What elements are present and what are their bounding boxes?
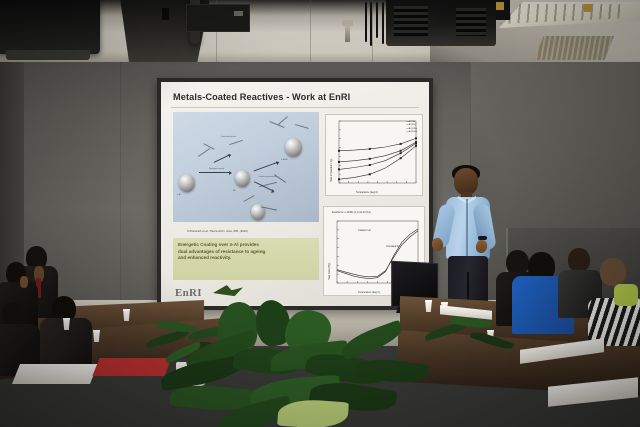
chart-legend: n-Al / ML n-Al (5%) n-Al (10%) n-Al (20%… bbox=[407, 121, 417, 135]
amber-indicator bbox=[584, 4, 592, 12]
amber-indicator bbox=[496, 2, 504, 10]
presenter-wristwatch bbox=[478, 236, 487, 240]
presenter-shirt-placket bbox=[466, 199, 468, 257]
air-conditioning-unit bbox=[386, 0, 496, 46]
slide-title: Metals-Coated Reactives - Work at EnRI bbox=[173, 92, 350, 102]
presentation-slide: Metals-Coated Reactives - Work at EnRI bbox=[161, 82, 429, 306]
callout-line: Energetic Coating over n-Al provides bbox=[178, 242, 314, 249]
diagram-label: Functionalisation bbox=[221, 136, 236, 139]
enri-logo-text: EnRI bbox=[175, 287, 202, 299]
projector-housing-left bbox=[0, 0, 100, 54]
conference-room-scene: Metals-Coated Reactives - Work at EnRI bbox=[0, 0, 640, 427]
y-axis-label: Heat Flow (W/g) bbox=[328, 263, 331, 280]
chart-title: Exotherm: n-Al/ML (1,2) & Al (3,4) bbox=[332, 211, 371, 214]
potted-plant-foreground bbox=[160, 300, 450, 427]
audience-member-left-4 bbox=[0, 300, 42, 372]
diagram-label: n-Al bbox=[177, 194, 181, 197]
slide-citation: S.Pisharath et al, Thermochim. Acta, 635… bbox=[187, 230, 248, 233]
ceiling-cables bbox=[363, 2, 389, 46]
enri-logo-leaf-icon bbox=[213, 285, 243, 298]
audience-member-left-3 bbox=[40, 296, 92, 366]
diagram-label: Energetic moiety bbox=[209, 168, 224, 171]
ceiling-speaker bbox=[186, 4, 250, 32]
diagram-label: Surface passivation bbox=[259, 176, 276, 179]
diagram-label: n-Al/ML bbox=[281, 159, 288, 162]
ceiling-vent bbox=[534, 36, 614, 60]
legend-entry: n-Al (20%) bbox=[407, 131, 417, 134]
x-axis-label: Temperature (deg C) bbox=[356, 191, 378, 194]
x-axis-label: Temperature (deg C) bbox=[358, 291, 380, 294]
diagram-label: Al-L bbox=[233, 190, 237, 193]
chart-annotation: Coated n-Al bbox=[358, 229, 371, 232]
callout-line: and enhanced reactivity. bbox=[178, 255, 314, 262]
audience-member-right-4 bbox=[592, 258, 640, 338]
potted-plant-back-right bbox=[420, 318, 530, 388]
chart-top-right: n-Al / ML n-Al (5%) n-Al (10%) n-Al (20%… bbox=[325, 114, 423, 196]
chart-annotation: Uncoated Al bbox=[386, 245, 399, 248]
callout-line: dual advantages of resistance to ageing bbox=[178, 249, 314, 256]
y-axis-label: Heat of Reaction (J/g) bbox=[330, 159, 333, 182]
title-divider bbox=[171, 107, 419, 108]
presenter bbox=[432, 168, 504, 316]
reaction-scheme-diagram: n-Al Al-L n-Al/ML Energetic moiety Funct… bbox=[173, 112, 319, 222]
sprinkler-head bbox=[345, 24, 350, 42]
slide-callout-box: Energetic Coating over n-Al provides dua… bbox=[173, 238, 319, 280]
document bbox=[12, 364, 98, 384]
presenter-head bbox=[454, 168, 478, 195]
